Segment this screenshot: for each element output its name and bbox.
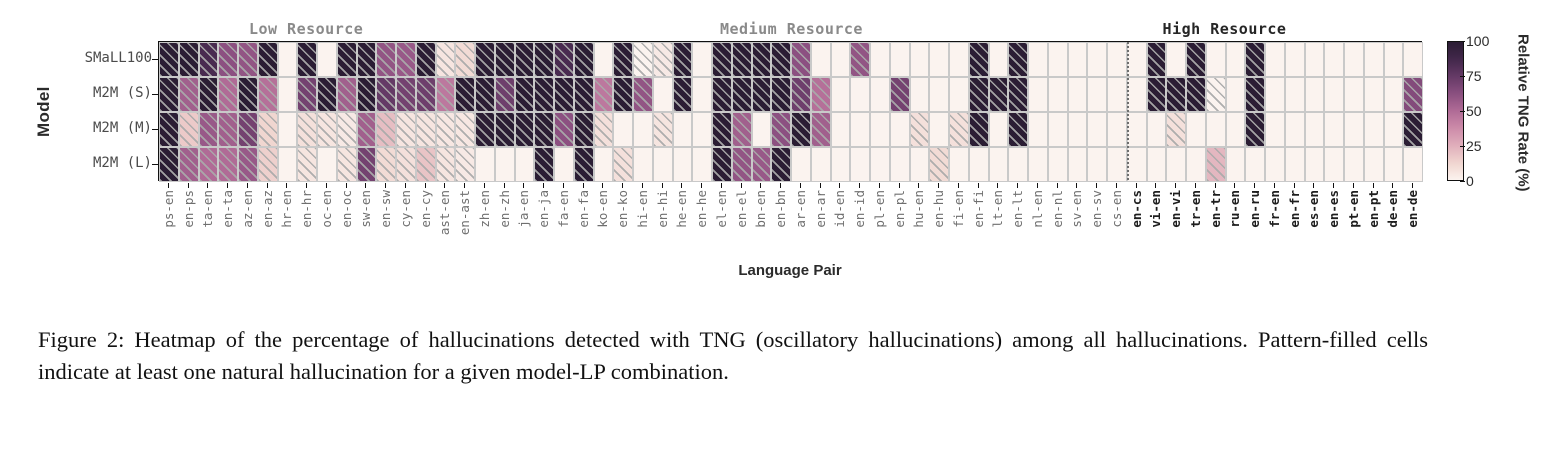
x-tick-mark [997, 183, 998, 188]
heatmap-cell [396, 77, 416, 112]
heatmap-cell [455, 77, 475, 112]
colorbar-tick-label: 75 [1466, 68, 1482, 84]
x-tick-label: en-de [1405, 190, 1420, 228]
heatmap-cell [1403, 147, 1423, 182]
heatmap-cell [771, 77, 791, 112]
heatmap-cell [1186, 42, 1206, 77]
heatmap-cell [1048, 42, 1068, 77]
heatmap-cell [337, 112, 357, 147]
x-tick-label: en-vi [1168, 190, 1183, 228]
heatmap-cell [831, 42, 851, 77]
heatmap-cell [337, 147, 357, 182]
heatmap-cell [1245, 42, 1265, 77]
heatmap-cell [297, 112, 317, 147]
x-tick-label: lt-en [990, 190, 1005, 228]
x-tick-mark [1373, 183, 1374, 188]
heatmap-cell [594, 147, 614, 182]
heatmap-cell [396, 112, 416, 147]
x-tick-mark [938, 183, 939, 188]
heatmap-cell [1147, 77, 1167, 112]
heatmap-cell [515, 42, 535, 77]
heatmap-cell [653, 112, 673, 147]
x-tick-label: en-fi [971, 190, 986, 228]
x-tick-mark [800, 183, 801, 188]
heatmap-cell [673, 42, 693, 77]
heatmap-cell [613, 112, 633, 147]
heatmap-cell [1166, 112, 1186, 147]
heatmap-cell [673, 147, 693, 182]
heatmap-cell [1245, 112, 1265, 147]
x-tick-label: ta-en [200, 190, 215, 228]
heatmap-cell [673, 112, 693, 147]
x-tick-label: en-es [1326, 190, 1341, 228]
heatmap-cell [1305, 147, 1325, 182]
x-tick-mark [563, 183, 564, 188]
heatmap-cell [613, 77, 633, 112]
heatmap-cell [1087, 42, 1107, 77]
heatmap-cell [258, 42, 278, 77]
heatmap-cell [850, 147, 870, 182]
heatmap-cell [1127, 112, 1147, 147]
x-tick-label: en-nl [1050, 190, 1065, 228]
x-tick-label: ast-en [437, 190, 452, 235]
heatmap-cell [1087, 112, 1107, 147]
x-tick-mark [642, 183, 643, 188]
x-tick-label: en-pl [892, 190, 907, 228]
heatmap-cell [1226, 112, 1246, 147]
x-tick-mark [523, 183, 524, 188]
heatmap-cell [850, 42, 870, 77]
x-tick-mark [1392, 183, 1393, 188]
x-tick-label: hi-en [635, 190, 650, 228]
x-tick-mark [504, 183, 505, 188]
x-tick-label: de-en [1385, 190, 1400, 228]
heatmap-cell [1384, 42, 1404, 77]
x-tick-mark [484, 183, 485, 188]
heatmap-cell [831, 77, 851, 112]
x-tick-mark [1274, 183, 1275, 188]
heatmap-cell [238, 77, 258, 112]
heatmap-cell [436, 77, 456, 112]
heatmap-cell [1206, 147, 1226, 182]
heatmap-cell [1403, 77, 1423, 112]
heatmap-cell [653, 147, 673, 182]
heatmap-cell [1344, 42, 1364, 77]
x-tick-mark [1155, 183, 1156, 188]
heatmap-cell [199, 77, 219, 112]
x-axis-label: Language Pair [158, 262, 1422, 279]
heatmap-cell [515, 112, 535, 147]
heatmap-cell [238, 42, 258, 77]
heatmap-cell [870, 147, 890, 182]
x-tick-mark [1254, 183, 1255, 188]
heatmap-cell [1403, 42, 1423, 77]
x-tick-mark [1175, 183, 1176, 188]
heatmap-cell [1068, 42, 1088, 77]
x-tick-mark [583, 183, 584, 188]
heatmap-cell [1008, 42, 1028, 77]
x-tick-mark [662, 183, 663, 188]
heatmap-cell [357, 77, 377, 112]
x-tick-label: en-el [734, 190, 749, 228]
heatmap-cell [1344, 112, 1364, 147]
x-tick-mark [958, 183, 959, 188]
heatmap-cell [475, 77, 495, 112]
x-tick-label: nl-en [1030, 190, 1045, 228]
x-tick-mark [227, 183, 228, 188]
heatmap-cell [1265, 42, 1285, 77]
x-tick-label: el-en [714, 190, 729, 228]
heatmap-cell [633, 112, 653, 147]
heatmap-cell [1008, 147, 1028, 182]
x-tick-label: cs-en [1109, 190, 1124, 228]
x-tick-label: sv-en [1069, 190, 1084, 228]
heatmap-cell [554, 77, 574, 112]
heatmap-cell [1324, 112, 1344, 147]
heatmap-cell [278, 77, 298, 112]
heatmap-cell [258, 112, 278, 147]
heatmap-cell [712, 147, 732, 182]
heatmap-cell [1364, 77, 1384, 112]
heatmap-cell [534, 42, 554, 77]
heatmap-cell [238, 147, 258, 182]
heatmap-cell [1028, 42, 1048, 77]
heatmap-cell [495, 112, 515, 147]
heatmap-cell [159, 42, 179, 77]
heatmap-cell [929, 42, 949, 77]
heatmap-cell [416, 77, 436, 112]
heatmap-cell [258, 147, 278, 182]
heatmap-cell [1166, 147, 1186, 182]
x-tick-label: pt-en [1346, 190, 1361, 228]
heatmap-cell [218, 147, 238, 182]
x-tick-label: en-fa [576, 190, 591, 228]
resource-group-label: Medium Resource [720, 20, 860, 38]
colorbar-tick-mark [1460, 41, 1465, 42]
heatmap-cell [910, 147, 930, 182]
heatmap-cell [337, 42, 357, 77]
heatmap-cell [554, 42, 574, 77]
heatmap-cell [1305, 42, 1325, 77]
x-tick-mark [425, 183, 426, 188]
heatmap-cell [969, 112, 989, 147]
x-tick-mark [1057, 183, 1058, 188]
y-tick-label: SMaLL100 [85, 41, 152, 75]
x-tick-label: en-cy [418, 190, 433, 228]
heatmap-cell [633, 147, 653, 182]
heatmap-cell [1048, 77, 1068, 112]
heatmap-cell [850, 112, 870, 147]
heatmap-cell [831, 147, 851, 182]
heatmap-cell [376, 147, 396, 182]
heatmap-cell [1364, 42, 1384, 77]
x-tick-mark [879, 183, 880, 188]
heatmap-cell [1285, 147, 1305, 182]
x-tick-label: en-ja [536, 190, 551, 228]
heatmap-cell [495, 77, 515, 112]
y-tick-label: M2M (S) [93, 76, 152, 110]
heatmap-cell [692, 147, 712, 182]
heatmap-cell [811, 147, 831, 182]
x-tick-label: oc-en [319, 190, 334, 228]
x-tick-mark [721, 183, 722, 188]
x-tick-label: en-sv [1089, 190, 1104, 228]
heatmap-cell [297, 147, 317, 182]
heatmap-cell [1245, 147, 1265, 182]
heatmap-cell [870, 112, 890, 147]
x-tick-label: fr-en [1267, 190, 1282, 228]
heatmap-cell [752, 77, 772, 112]
resource-group-label: Low Resource [236, 20, 376, 38]
heatmap-cell [1206, 112, 1226, 147]
heatmap-cell [337, 77, 357, 112]
heatmap-cell [574, 147, 594, 182]
heatmap-cell [949, 42, 969, 77]
x-tick-mark [168, 183, 169, 188]
x-tick-mark [1195, 183, 1196, 188]
heatmap-cell [752, 112, 772, 147]
heatmap-cell [1226, 77, 1246, 112]
x-tick-mark [918, 183, 919, 188]
heatmap-cell [1127, 42, 1147, 77]
heatmap-cell [692, 77, 712, 112]
heatmap-cell [653, 77, 673, 112]
heatmap-cell [1186, 147, 1206, 182]
heatmap-cell [1147, 112, 1167, 147]
heatmap-cell [317, 77, 337, 112]
heatmap-cell [455, 147, 475, 182]
colorbar-tick-mark [1460, 181, 1465, 182]
heatmap-cell [1245, 77, 1265, 112]
x-tick-label: en-az [260, 190, 275, 228]
x-tick-mark [1116, 183, 1117, 188]
x-tick-label: en-sw [378, 190, 393, 228]
x-tick-label: en-ko [615, 190, 630, 228]
heatmap-cell [534, 112, 554, 147]
heatmap-cell [475, 147, 495, 182]
heatmap-cell [376, 112, 396, 147]
colorbar-tick-label: 100 [1466, 33, 1489, 49]
heatmap-cell [910, 77, 930, 112]
x-tick-label: en-lt [1010, 190, 1025, 228]
heatmap-cell [297, 42, 317, 77]
x-tick-mark [1096, 183, 1097, 188]
heatmap-cell [732, 147, 752, 182]
heatmap-cell [1028, 77, 1048, 112]
heatmap-cell [594, 112, 614, 147]
x-tick-label: en-ps [181, 190, 196, 228]
heatmap-cell [989, 112, 1009, 147]
x-tick-mark [978, 183, 979, 188]
heatmap-cell [199, 112, 219, 147]
x-tick-mark [622, 183, 623, 188]
heatmap-cell [771, 42, 791, 77]
x-tick-mark [188, 183, 189, 188]
heatmap-cell [633, 77, 653, 112]
x-tick-label: hr-en [279, 190, 294, 228]
x-tick-mark [1353, 183, 1354, 188]
heatmap-cell [436, 42, 456, 77]
x-tick-label: pl-en [872, 190, 887, 228]
heatmap-cell [574, 77, 594, 112]
x-tick-mark [780, 183, 781, 188]
heatmap-cell [712, 42, 732, 77]
figure-page: Model SMaLL100M2M (S)M2M (M)M2M (L) ps-e… [0, 0, 1566, 472]
heatmap-cell [791, 42, 811, 77]
heatmap-cell [1008, 112, 1028, 147]
heatmap-cell [1344, 147, 1364, 182]
heatmap-cell [1403, 112, 1423, 147]
x-tick-label: es-en [1306, 190, 1321, 228]
heatmap-cell [771, 147, 791, 182]
x-tick-label: hu-en [911, 190, 926, 228]
heatmap-cell [1087, 77, 1107, 112]
heatmap-cell [1166, 77, 1186, 112]
x-tick-label: he-en [674, 190, 689, 228]
heatmap-cell [752, 42, 772, 77]
colorbar-tick-label: 0 [1466, 173, 1474, 189]
heatmap-cell [436, 147, 456, 182]
heatmap-cell [1107, 112, 1127, 147]
x-tick-label: az-en [240, 190, 255, 228]
heatmap-cell [1127, 147, 1147, 182]
heatmap-cell [258, 77, 278, 112]
x-tick-mark [741, 183, 742, 188]
colorbar-tick-mark [1460, 146, 1465, 147]
heatmap-cell [159, 147, 179, 182]
heatmap-cell [1305, 77, 1325, 112]
colorbar-tick-label: 25 [1466, 138, 1482, 154]
x-tick-label: en-ru [1247, 190, 1262, 228]
heatmap-cell [870, 77, 890, 112]
x-tick-label: id-en [832, 190, 847, 228]
x-tick-mark [1215, 183, 1216, 188]
heatmap-cell [357, 147, 377, 182]
x-tick-label: en-ta [220, 190, 235, 228]
x-tick-mark [760, 183, 761, 188]
heatmap-cell [1324, 77, 1344, 112]
x-tick-mark [247, 183, 248, 188]
heatmap-cell [317, 147, 337, 182]
x-tick-label: en-ast [457, 190, 472, 235]
heatmap-cell [1206, 77, 1226, 112]
heatmap-cell [1324, 147, 1344, 182]
heatmap-cell [890, 77, 910, 112]
heatmap-cell [712, 77, 732, 112]
heatmap-cell [732, 77, 752, 112]
heatmap-cell [613, 147, 633, 182]
x-tick-mark [602, 183, 603, 188]
heatmap-cell [969, 77, 989, 112]
heatmap-cell [1384, 77, 1404, 112]
x-tick-mark [1234, 183, 1235, 188]
heatmap-cell [870, 42, 890, 77]
heatmap-cell [1285, 42, 1305, 77]
heatmap-cell [712, 112, 732, 147]
heatmap-cell [455, 112, 475, 147]
x-tick-mark [1037, 183, 1038, 188]
x-tick-mark [839, 183, 840, 188]
heatmap-cell [396, 147, 416, 182]
heatmap-cell [179, 112, 199, 147]
heatmap-cell [297, 77, 317, 112]
heatmap-cell [357, 42, 377, 77]
heatmap-cell [653, 42, 673, 77]
x-tick-mark [543, 183, 544, 188]
x-tick-mark [1412, 183, 1413, 188]
heatmap-cell [811, 112, 831, 147]
x-tick-mark [1017, 183, 1018, 188]
heatmap-cell [969, 147, 989, 182]
heatmap-cell [910, 42, 930, 77]
heatmap-cell [692, 42, 712, 77]
heatmap-cell [1305, 112, 1325, 147]
x-tick-mark [681, 183, 682, 188]
heatmap-cell [1285, 112, 1305, 147]
heatmap-cell [515, 77, 535, 112]
heatmap-figure: Model SMaLL100M2M (S)M2M (M)M2M (L) ps-e… [0, 0, 1566, 300]
x-tick-label: en-pt [1366, 190, 1381, 228]
x-axis-ticks: ps-enen-psta-enen-taaz-enen-azhr-enen-hr… [158, 183, 1422, 261]
heatmap-cell [732, 42, 752, 77]
x-tick-label: fi-en [951, 190, 966, 228]
x-tick-label: ps-en [161, 190, 176, 228]
heatmap-cell [732, 112, 752, 147]
heatmap-cell [692, 112, 712, 147]
heatmap-cell [1048, 147, 1068, 182]
x-tick-label: en-cs [1129, 190, 1144, 228]
x-tick-mark [701, 183, 702, 188]
resource-group-divider [1127, 42, 1129, 180]
heatmap-cell [1226, 147, 1246, 182]
heatmap-cell [1265, 112, 1285, 147]
x-tick-label: ar-en [793, 190, 808, 228]
colorbar-label: Relative TNG Rate (%) [1512, 30, 1534, 195]
heatmap-cell [278, 147, 298, 182]
x-tick-label: en-he [694, 190, 709, 228]
heatmap-plot-area [158, 41, 1422, 181]
y-axis-ticks: SMaLL100M2M (S)M2M (M)M2M (L) [60, 41, 152, 181]
heatmap-cell [574, 112, 594, 147]
heatmap-cell [949, 77, 969, 112]
x-tick-label: en-hr [299, 190, 314, 228]
heatmap-cell [633, 42, 653, 77]
heatmap-cell [1364, 147, 1384, 182]
heatmap-cell [1344, 77, 1364, 112]
x-tick-label: fa-en [556, 190, 571, 228]
heatmap-cell [1107, 42, 1127, 77]
heatmap-cell [850, 77, 870, 112]
heatmap-cell [455, 42, 475, 77]
heatmap-cell [1028, 147, 1048, 182]
heatmap-cell [949, 147, 969, 182]
heatmap-cell [416, 112, 436, 147]
heatmap-cell [436, 112, 456, 147]
heatmap-cell [179, 42, 199, 77]
x-tick-mark [326, 183, 327, 188]
heatmap-cell [989, 77, 1009, 112]
heatmap-cell [495, 147, 515, 182]
heatmap-cell [278, 42, 298, 77]
colorbar-ticks: 0255075100 [1466, 41, 1512, 181]
heatmap-cell [594, 77, 614, 112]
heatmap-cell [890, 112, 910, 147]
heatmap-cell [1206, 42, 1226, 77]
heatmap-cell [396, 42, 416, 77]
x-tick-label: en-ar [813, 190, 828, 228]
heatmap-cell [238, 112, 258, 147]
heatmap-cell [1265, 77, 1285, 112]
